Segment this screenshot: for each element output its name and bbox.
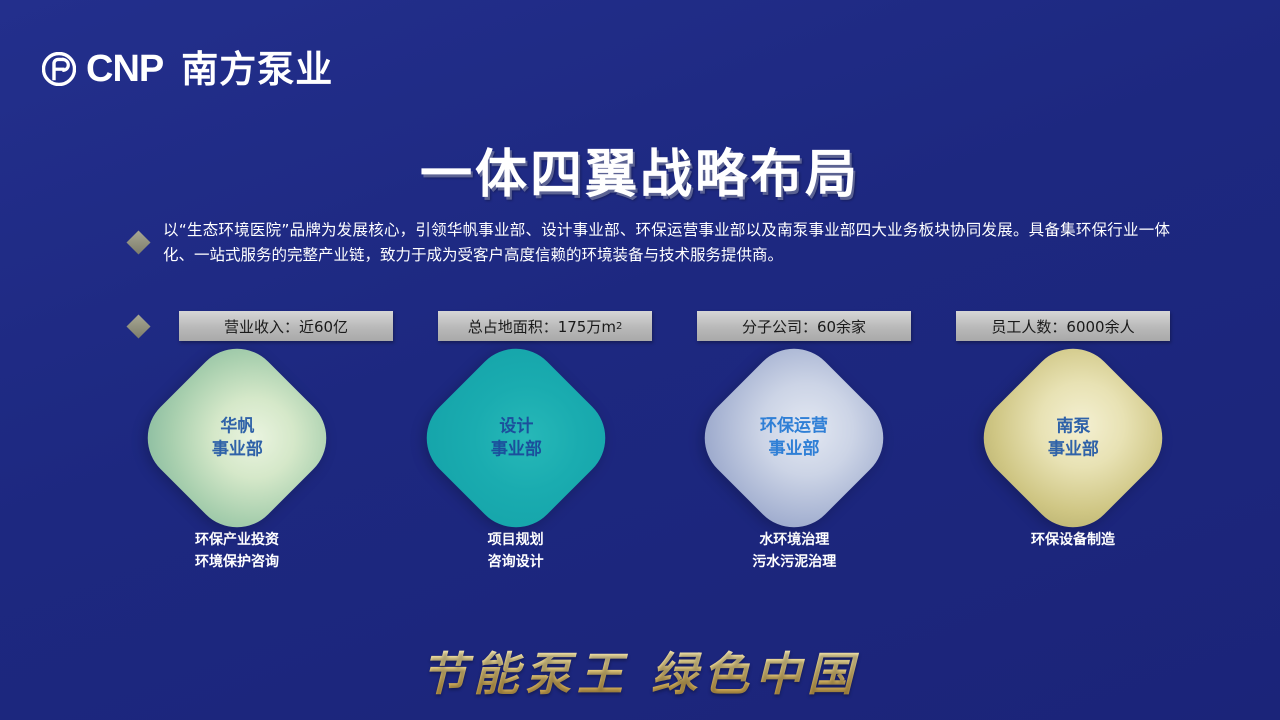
cnp-circle-logo-icon [42,52,76,86]
stat-badge-label: 员工人数：6000余人 [991,316,1134,337]
division-caption-line1: 环保产业投资 [195,530,279,552]
division-caption: 环保产业投资 环境保护咨询 [195,530,279,573]
stat-badge: 总占地面积：175万m2 [438,311,652,341]
division-name-line2: 事业部 [1047,438,1098,461]
division-name: 环保运营 事业部 [760,415,828,461]
stat-badge-superscript: 2 [616,321,622,332]
stat-badge: 营业收入：近60亿 [179,311,393,341]
division-cell-huanbaoyunying: 环保运营 事业部 水环境治理 污水污泥治理 [687,362,901,573]
division-name: 南泵 事业部 [1047,415,1098,461]
division-cell-huafan: 华帆 事业部 环保产业投资 环境保护咨询 [130,362,344,573]
division-name-line2: 事业部 [212,438,263,461]
logo-text-en: CNP [86,50,163,88]
stats-block: 营业收入：近60亿 总占地面积：175万m2 分子公司：60余家 员工人数：60… [130,311,1170,341]
rounded-diamond-shape-icon: 环保运营 事业部 [687,331,902,546]
division-caption-line1: 水环境治理 [752,530,836,552]
division-caption: 环保设备制造 [1031,530,1115,552]
stat-badge: 分子公司：60余家 [697,311,911,341]
page-title: 一体四翼战略布局 [0,132,1280,207]
stat-badge-label: 营业收入：近60亿 [224,316,348,337]
rounded-diamond-shape-icon: 南泵 事业部 [965,331,1180,546]
division-caption: 项目规划 咨询设计 [488,530,544,573]
rounded-diamond-shape-icon: 设计 事业部 [408,331,623,546]
intro-paragraph: 以“生态环境医院”品牌为发展核心，引领华帆事业部、设计事业部、环保运营事业部以及… [163,218,1170,268]
diamond-bullet-icon [126,231,150,255]
stat-badge-label: 总占地面积：175万m [468,316,616,337]
division-name-line1: 南泵 [1047,415,1098,438]
divisions-row: 华帆 事业部 环保产业投资 环境保护咨询 设计 事业部 项目规划 咨询设计 [130,362,1180,573]
brand-logo: CNP 南方泵业 [42,50,333,88]
division-caption-line2: 咨询设计 [488,552,544,574]
stats-list: 营业收入：近60亿 总占地面积：175万m2 分子公司：60余家 员工人数：60… [179,311,1170,341]
division-caption-line1: 环保设备制造 [1031,530,1115,552]
division-caption-line2: 环境保护咨询 [195,552,279,574]
footer-slogan: 节能泵王 绿色中国 [0,638,1280,704]
rounded-diamond-shape-icon: 华帆 事业部 [130,331,345,546]
division-name-line2: 事业部 [760,438,828,461]
stat-badge-label: 分子公司：60余家 [742,316,866,337]
division-caption-line2: 污水污泥治理 [752,552,836,574]
division-name-line2: 事业部 [490,438,541,461]
division-cell-nanbeng: 南泵 事业部 环保设备制造 [966,362,1180,573]
division-name-line1: 设计 [490,415,541,438]
division-name: 设计 事业部 [490,415,541,461]
logo-text-cn: 南方泵业 [181,51,333,88]
division-caption-line1: 项目规划 [488,530,544,552]
division-caption: 水环境治理 污水污泥治理 [752,530,836,573]
intro-block: 以“生态环境医院”品牌为发展核心，引领华帆事业部、设计事业部、环保运营事业部以及… [130,218,1170,268]
division-name: 华帆 事业部 [212,415,263,461]
diamond-bullet-icon [126,314,150,338]
stat-badge: 员工人数：6000余人 [956,311,1170,341]
division-name-line1: 环保运营 [760,415,828,438]
slide-canvas: CNP 南方泵业 一体四翼战略布局 以“生态环境医院”品牌为发展核心，引领华帆事… [0,0,1280,720]
division-name-line1: 华帆 [212,415,263,438]
division-cell-sheji: 设计 事业部 项目规划 咨询设计 [409,362,623,573]
